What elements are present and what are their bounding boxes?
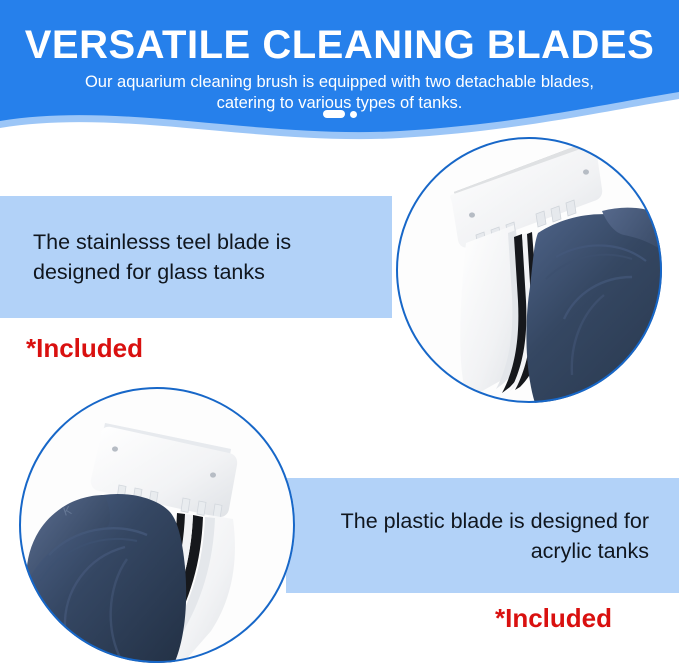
plastic-blade-included-badge: *Included [495,603,612,634]
pagination-dot-active[interactable] [323,110,345,118]
steel-blade-photo-art: M [396,137,662,403]
plastic-blade-text-band: The plastic blade is designed for acryli… [286,478,679,593]
steel-blade-photo: M [396,137,662,403]
plastic-blade-photo-art: K [19,387,295,663]
plastic-blade-photo: K [19,387,295,663]
plastic-blade-description: The plastic blade is designed for acryli… [286,506,679,566]
header-banner: VERSATILE CLEANING BLADES Our aquarium c… [0,0,679,150]
steel-blade-description: The stainlesss teel blade is designed fo… [0,227,392,287]
pagination-indicator[interactable] [0,110,679,118]
steel-blade-included-badge: *Included [26,333,143,364]
infographic-root: VERSATILE CLEANING BLADES Our aquarium c… [0,0,679,666]
header-wave-graphic [0,0,679,150]
steel-blade-text-band: The stainlesss teel blade is designed fo… [0,196,392,318]
pagination-dot-inactive[interactable] [350,111,357,118]
